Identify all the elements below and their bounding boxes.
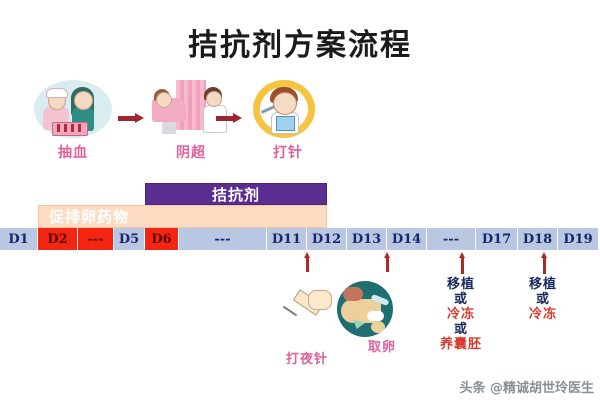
- flow-arrow-icon: [118, 114, 144, 122]
- bar-stimulation-label: 促排卵药物: [49, 206, 129, 227]
- day-cell: D2: [38, 228, 78, 250]
- procedure-injection: 打针: [245, 78, 331, 162]
- note-trigger-shot: 打夜针: [272, 352, 342, 367]
- day-cell-label: D12: [312, 232, 341, 247]
- note-line: 移植: [510, 277, 576, 292]
- arrow-shaft: [306, 257, 309, 272]
- infographic-canvas: 拮抗剂方案流程 抽血: [0, 0, 600, 400]
- note-day17-options: 移植或冷冻或养囊胚: [428, 277, 494, 352]
- note-day19-options: 移植或冷冻: [510, 277, 576, 322]
- day-cell: D18: [518, 228, 558, 250]
- note-line: 冷冻: [510, 307, 576, 322]
- day-cell: D12: [307, 228, 347, 250]
- arrow-shaft: [461, 257, 464, 274]
- day-cell-label: D1: [8, 232, 28, 247]
- day-cell-label: D6: [151, 232, 171, 247]
- procedure-blood-draw: 抽血: [30, 78, 116, 162]
- trigger-shot-illustration: [276, 286, 334, 328]
- bar-antagonist-label: 拮抗剂: [212, 184, 260, 205]
- arrow-shaft: [543, 257, 546, 274]
- day-cell: D13: [347, 228, 387, 250]
- page-title: 拮抗剂方案流程: [0, 20, 600, 64]
- day-cell: ---: [78, 228, 114, 250]
- day-cell-label: D14: [392, 232, 421, 247]
- day-cell: D1: [0, 228, 38, 250]
- day-cell-label: ---: [443, 232, 459, 247]
- day-cell-label: ---: [87, 232, 103, 247]
- day-cell-label: D19: [563, 232, 592, 247]
- pointer-d17: [459, 252, 466, 274]
- day-cell-label: D17: [482, 232, 511, 247]
- day-cell: D11: [267, 228, 307, 250]
- note-line: 打夜针: [272, 352, 342, 367]
- day-cell-label: D2: [47, 232, 67, 247]
- day-cell: D5: [114, 228, 145, 250]
- procedure-illustration-row: 抽血 阴超: [0, 78, 600, 170]
- injection-illustration: [245, 78, 331, 140]
- day-cell: D19: [558, 228, 598, 250]
- day-cell: ---: [179, 228, 267, 250]
- pointer-d12: [304, 252, 311, 272]
- note-line: 或: [428, 292, 494, 307]
- ultrasound-illustration: [148, 78, 234, 140]
- note-line: 或: [428, 322, 494, 337]
- blood-draw-illustration: [30, 78, 116, 140]
- procedure-label-injection: 打针: [245, 142, 331, 162]
- note-line: 养囊胚: [428, 337, 494, 352]
- day-cell-label: D11: [272, 232, 301, 247]
- arrow-shaft: [386, 257, 389, 272]
- procedure-label-blood-draw: 抽血: [30, 142, 116, 162]
- treatment-timeline: 拮抗剂 促排卵药物 D1D2---D5D6---D11D12D13D14---D…: [0, 183, 600, 251]
- day-cell-label: D18: [523, 232, 552, 247]
- arrow-head-icon: [304, 252, 310, 258]
- bar-antagonist: 拮抗剂: [145, 183, 327, 205]
- procedure-label-ultrasound: 阴超: [148, 142, 234, 162]
- note-line: 冷冻: [428, 307, 494, 322]
- pointer-d14: [384, 252, 391, 272]
- day-cell-label: D13: [352, 232, 381, 247]
- watermark: 头条 @精诚胡世玲医生: [459, 377, 594, 396]
- note-line: 取卵: [352, 340, 412, 355]
- day-cell: D14: [387, 228, 427, 250]
- note-egg-retrieval: 取卵: [352, 340, 412, 355]
- day-cell-label: ---: [214, 232, 230, 247]
- day-cell: D6: [145, 228, 179, 250]
- day-cell-label: D5: [119, 232, 139, 247]
- arrow-head-icon: [541, 252, 547, 258]
- arrow-head-icon: [384, 252, 390, 258]
- arrow-head-icon: [459, 252, 465, 258]
- day-cells-row: D1D2---D5D6---D11D12D13D14---D17D18D19: [0, 228, 598, 250]
- day-cell: ---: [427, 228, 476, 250]
- egg-retrieval-illustration: [337, 281, 393, 337]
- bar-stimulation-drugs: 促排卵药物: [38, 205, 327, 228]
- pointer-d19: [541, 252, 548, 274]
- day-cell: D17: [476, 228, 518, 250]
- note-line: 或: [510, 292, 576, 307]
- flow-arrow-icon: [216, 114, 242, 122]
- note-line: 移植: [428, 277, 494, 292]
